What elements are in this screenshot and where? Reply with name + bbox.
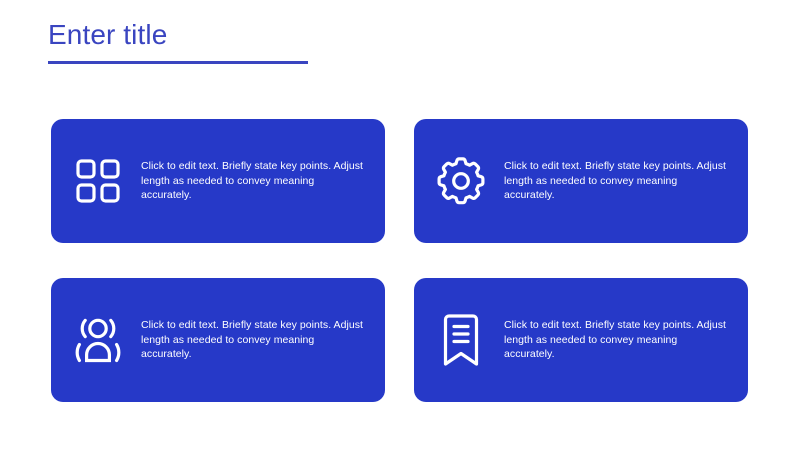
users-icon bbox=[67, 309, 129, 371]
card-body-text[interactable]: Click to edit text. Briefly state key po… bbox=[504, 159, 734, 203]
gear-icon bbox=[430, 150, 492, 212]
grid-icon bbox=[67, 150, 129, 212]
card-body-text[interactable]: Click to edit text. Briefly state key po… bbox=[504, 318, 734, 362]
feature-card[interactable]: Click to edit text. Briefly state key po… bbox=[414, 119, 748, 243]
card-body-text[interactable]: Click to edit text. Briefly state key po… bbox=[141, 318, 371, 362]
bookmark-list-icon bbox=[430, 309, 492, 371]
title-underline-rule bbox=[48, 61, 308, 64]
card-body-text[interactable]: Click to edit text. Briefly state key po… bbox=[141, 159, 371, 203]
feature-card[interactable]: Click to edit text. Briefly state key po… bbox=[414, 278, 748, 402]
title-block: Enter title bbox=[48, 18, 310, 64]
slide-canvas: Enter title Click to edit text. Briefly … bbox=[0, 0, 799, 450]
feature-card[interactable]: Click to edit text. Briefly state key po… bbox=[51, 119, 385, 243]
page-title[interactable]: Enter title bbox=[48, 18, 310, 52]
feature-card[interactable]: Click to edit text. Briefly state key po… bbox=[51, 278, 385, 402]
card-grid: Click to edit text. Briefly state key po… bbox=[51, 119, 748, 402]
